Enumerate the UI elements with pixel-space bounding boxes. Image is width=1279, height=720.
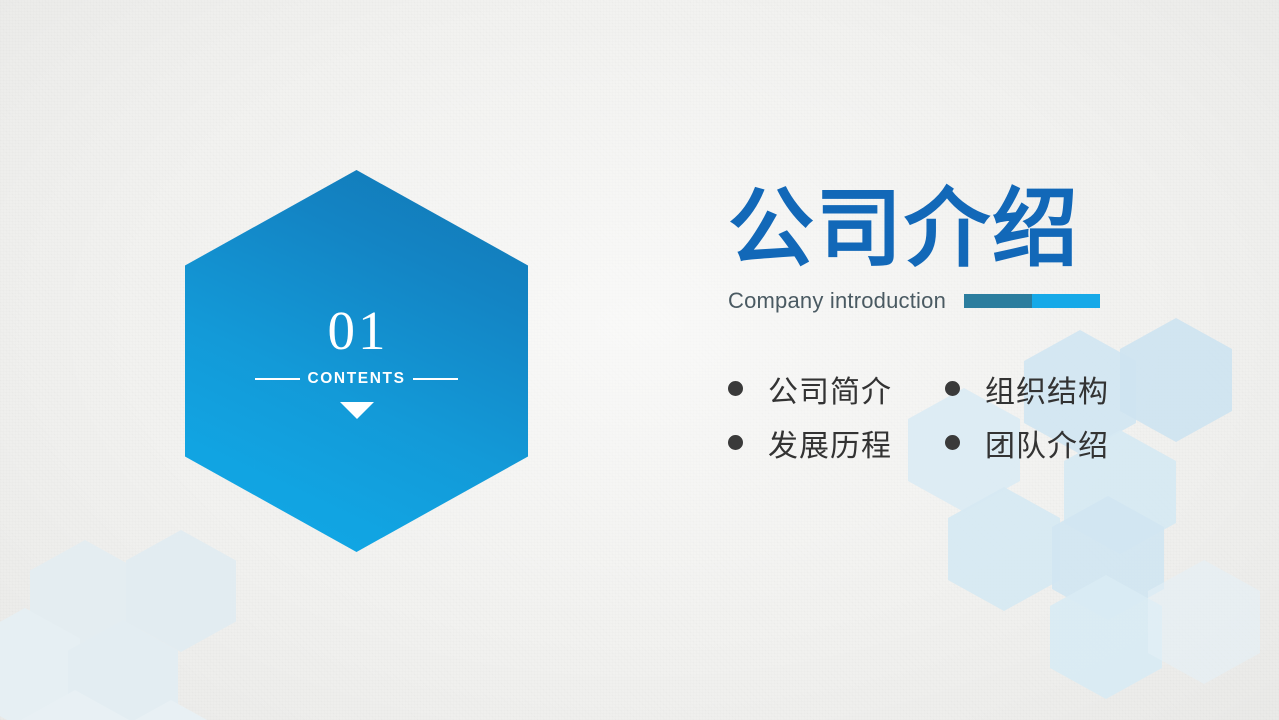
decorative-hexagon — [1050, 575, 1162, 699]
decorative-hexagon — [0, 608, 80, 720]
accent-bar-left-segment — [964, 294, 1032, 308]
decorative-hexagon — [1052, 496, 1164, 620]
section-marker-hexagon[interactable]: 01 CONTENTS — [185, 170, 528, 552]
decorative-hexagon — [1148, 560, 1260, 684]
subtitle-english: Company introduction — [728, 288, 946, 314]
section-number: 01 — [328, 303, 389, 358]
page-title: 公司介绍 — [728, 186, 1248, 274]
list-item-label: 公司简介 — [768, 367, 892, 411]
list-item[interactable]: 组织结构 — [945, 362, 1162, 416]
contents-label-row: CONTENTS — [255, 370, 457, 388]
decorative-hexagon — [948, 487, 1060, 611]
contents-label: CONTENTS — [307, 370, 405, 388]
list-item-label: 组织结构 — [985, 367, 1109, 411]
caret-down-icon — [340, 402, 374, 419]
header-block: 公司介绍 Company introduction 公司简介组织结构发展历程团队… — [728, 186, 1248, 470]
list-item-label: 团队介绍 — [985, 421, 1109, 465]
decorative-hexagon — [116, 700, 226, 720]
contents-list: 公司简介组织结构发展历程团队介绍 — [728, 362, 1248, 470]
accent-bar-right-segment — [1032, 294, 1100, 308]
list-item-label: 发展历程 — [768, 421, 892, 465]
accent-bar — [964, 294, 1100, 308]
list-item[interactable]: 发展历程 — [728, 416, 945, 470]
bullet-dot-icon — [945, 435, 960, 450]
decorative-hexagon — [20, 690, 130, 720]
rule-right — [413, 378, 458, 380]
bullet-dot-icon — [728, 435, 743, 450]
decorative-hexagon — [68, 620, 178, 720]
subtitle-row: Company introduction — [728, 288, 1248, 314]
bullet-dot-icon — [728, 381, 743, 396]
list-item[interactable]: 公司简介 — [728, 362, 945, 416]
decorative-hexagon — [30, 540, 140, 662]
bullet-dot-icon — [945, 381, 960, 396]
section-marker-content: 01 CONTENTS — [185, 170, 528, 552]
slide-canvas: 01 CONTENTS 公司介绍 Company introduction 公司… — [0, 0, 1279, 720]
rule-left — [255, 378, 300, 380]
list-item[interactable]: 团队介绍 — [945, 416, 1162, 470]
